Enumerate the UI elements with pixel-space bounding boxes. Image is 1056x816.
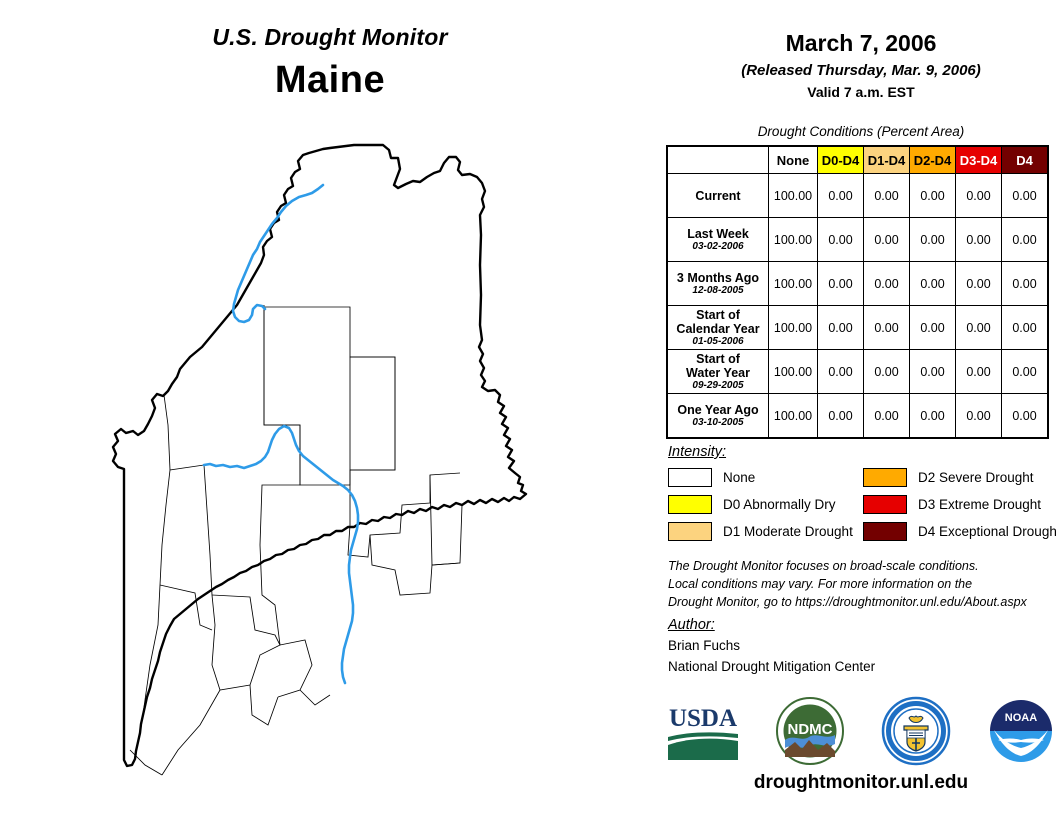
page-title: Maine — [0, 59, 660, 102]
cell-d1d4: 0.00 — [864, 350, 910, 394]
cell-d2d4: 0.00 — [910, 350, 956, 394]
cell-d3d4: 0.00 — [956, 174, 1002, 218]
cell-none: 100.00 — [769, 218, 818, 262]
row-label-date: 12-08-2005 — [668, 285, 768, 296]
disclaimer-line-3: Drought Monitor, go to https://droughtmo… — [668, 593, 1053, 611]
row-label-one-year-ago: One Year Ago 03-10-2005 — [667, 394, 769, 439]
ndmc-logo[interactable]: NDMC — [775, 696, 845, 766]
cell-d0d4: 0.00 — [818, 350, 864, 394]
row-label-date: 03-02-2006 — [668, 241, 768, 252]
legend-swatch-d2 — [863, 468, 907, 487]
legend-label-d3: D3 Extreme Drought — [918, 497, 1041, 512]
release-note: (Released Thursday, Mar. 9, 2006) — [666, 62, 1056, 79]
column-header-none: None — [769, 146, 818, 174]
legend-swatch-d3 — [863, 495, 907, 514]
logo-row: USDA NDMC NOAA — [666, 695, 1056, 767]
cell-d2d4: 0.00 — [910, 262, 956, 306]
county-line-cumberland — [162, 690, 220, 775]
row-label-text: Start of Water Year — [686, 352, 750, 380]
cell-none: 100.00 — [769, 394, 818, 439]
cell-d4: 0.00 — [1002, 218, 1049, 262]
legend-label-d2: D2 Severe Drought — [918, 470, 1034, 485]
row-label-text: Start of Calendar Year — [676, 308, 759, 336]
legend-swatch-d0 — [668, 495, 712, 514]
cell-d4: 0.00 — [1002, 394, 1049, 439]
row-label-text: 3 Months Ago — [677, 271, 759, 285]
author-heading: Author: — [668, 617, 715, 633]
table-corner-cell — [667, 146, 769, 174]
legend-label-d1: D1 Moderate Drought — [723, 524, 853, 539]
disclaimer-line-1: The Drought Monitor focuses on broad-sca… — [668, 557, 1053, 575]
cell-none: 100.00 — [769, 350, 818, 394]
release-date: March 7, 2006 — [666, 30, 1056, 57]
maine-state-outline — [113, 145, 526, 766]
valid-note: Valid 7 a.m. EST — [666, 84, 1056, 100]
usda-field-shape — [668, 739, 738, 760]
drought-conditions-table: None D0-D4 D1-D4 D2-D4 D3-D4 D4 Current … — [666, 145, 1049, 439]
table-row: Last Week 03-02-2006 100.00 0.00 0.00 0.… — [667, 218, 1048, 262]
table-body: Current 100.00 0.00 0.00 0.00 0.00 0.00 … — [667, 174, 1048, 439]
cell-d4: 0.00 — [1002, 350, 1049, 394]
commerce-seal[interactable] — [881, 696, 951, 766]
site-url[interactable]: droughtmonitor.unl.edu — [666, 772, 1056, 794]
cell-d3d4: 0.00 — [956, 306, 1002, 350]
ndmc-logo-text: NDMC — [788, 721, 833, 738]
noaa-logo-text: NOAA — [1005, 712, 1037, 724]
cell-d4: 0.00 — [1002, 174, 1049, 218]
row-label-text: Current — [695, 189, 740, 203]
table-row: 3 Months Ago 12-08-2005 100.00 0.00 0.00… — [667, 262, 1048, 306]
county-line-waldo — [278, 640, 312, 697]
cell-d0d4: 0.00 — [818, 394, 864, 439]
legend-item-d4: D4 Exceptional Drought — [863, 520, 1056, 543]
state-outline-group — [113, 145, 526, 766]
county-line-sagadahoc — [250, 685, 278, 725]
row-label-start-calendar-year: Start of Calendar Year 01-05-2006 — [667, 306, 769, 350]
column-header-d4: D4 — [1002, 146, 1049, 174]
intensity-legend: None D2 Severe Drought D0 Abnormally Dry… — [668, 466, 1056, 547]
row-label-3-months-ago: 3 Months Ago 12-08-2005 — [667, 262, 769, 306]
row-label-date: 01-05-2006 — [668, 336, 768, 347]
legend-swatch-d4 — [863, 522, 907, 541]
legend-label-d4: D4 Exceptional Drought — [918, 524, 1056, 539]
program-title: U.S. Drought Monitor — [0, 24, 660, 51]
legend-label-d0: D0 Abnormally Dry — [723, 497, 836, 512]
commerce-shield-chief — [907, 730, 925, 738]
cell-d0d4: 0.00 — [818, 262, 864, 306]
intensity-heading: Intensity: — [668, 444, 726, 460]
table-row: Start of Water Year 09-29-2005 100.00 0.… — [667, 350, 1048, 394]
author-block: Brian Fuchs National Drought Mitigation … — [668, 636, 875, 678]
table-row: One Year Ago 03-10-2005 100.00 0.00 0.00… — [667, 394, 1048, 439]
legend-item-d3: D3 Extreme Drought — [863, 493, 1056, 516]
legend-item-d0: D0 Abnormally Dry — [668, 493, 863, 516]
cell-d3d4: 0.00 — [956, 350, 1002, 394]
cell-d0d4: 0.00 — [818, 174, 864, 218]
usda-logo[interactable]: USDA — [666, 700, 740, 762]
disclaimer-line-2: Local conditions may vary. For more info… — [668, 575, 1053, 593]
column-header-d0d4: D0-D4 — [818, 146, 864, 174]
county-line-knox-lincoln — [300, 690, 330, 705]
cell-none: 100.00 — [769, 262, 818, 306]
maine-drought-map[interactable] — [100, 125, 580, 785]
county-line-kennebec — [212, 595, 280, 645]
row-label-last-week: Last Week 03-02-2006 — [667, 218, 769, 262]
noaa-logo[interactable]: NOAA — [986, 696, 1056, 766]
legend-item-d2: D2 Severe Drought — [863, 466, 1056, 489]
column-header-d3d4: D3-D4 — [956, 146, 1002, 174]
disclaimer-text: The Drought Monitor focuses on broad-sca… — [668, 557, 1053, 611]
legend-swatch-d1 — [668, 522, 712, 541]
table-row: Current 100.00 0.00 0.00 0.00 0.00 0.00 — [667, 174, 1048, 218]
noaa-lower-disc — [990, 731, 1052, 762]
table-header-row: None D0-D4 D1-D4 D2-D4 D3-D4 D4 — [667, 146, 1048, 174]
map-svg — [100, 125, 580, 785]
cell-d4: 0.00 — [1002, 306, 1049, 350]
map-title-block: U.S. Drought Monitor Maine — [0, 24, 660, 102]
author-organization: National Drought Mitigation Center — [668, 657, 875, 678]
column-header-d2d4: D2-D4 — [910, 146, 956, 174]
row-label-text: Last Week — [687, 227, 749, 241]
cell-d1d4: 0.00 — [864, 394, 910, 439]
cell-d4: 0.00 — [1002, 262, 1049, 306]
row-label-date: 09-29-2005 — [668, 380, 768, 391]
author-name: Brian Fuchs — [668, 636, 875, 657]
cell-d1d4: 0.00 — [864, 174, 910, 218]
legend-swatch-none — [668, 468, 712, 487]
table-caption: Drought Conditions (Percent Area) — [666, 124, 1056, 139]
cell-d2d4: 0.00 — [910, 174, 956, 218]
cell-d2d4: 0.00 — [910, 218, 956, 262]
cell-d0d4: 0.00 — [818, 218, 864, 262]
cell-none: 100.00 — [769, 174, 818, 218]
county-line-hancock — [370, 535, 460, 595]
cell-d3d4: 0.00 — [956, 262, 1002, 306]
row-label-start-water-year: Start of Water Year 09-29-2005 — [667, 350, 769, 394]
release-header: March 7, 2006 (Released Thursday, Mar. 9… — [666, 30, 1056, 100]
usda-logo-text: USDA — [669, 705, 737, 732]
cell-d2d4: 0.00 — [910, 394, 956, 439]
cell-d1d4: 0.00 — [864, 306, 910, 350]
cell-d3d4: 0.00 — [956, 218, 1002, 262]
legend-label-none: None — [723, 470, 755, 485]
cell-d1d4: 0.00 — [864, 262, 910, 306]
row-label-date: 03-10-2005 — [668, 417, 768, 428]
row-label-text: One Year Ago — [677, 403, 758, 417]
cell-d3d4: 0.00 — [956, 394, 1002, 439]
legend-item-none: None — [668, 466, 863, 489]
legend-item-d1: D1 Moderate Drought — [668, 520, 863, 543]
cell-d0d4: 0.00 — [818, 306, 864, 350]
row-label-current: Current — [667, 174, 769, 218]
cell-d1d4: 0.00 — [864, 218, 910, 262]
column-header-d1d4: D1-D4 — [864, 146, 910, 174]
cell-none: 100.00 — [769, 306, 818, 350]
table-row: Start of Calendar Year 01-05-2006 100.00… — [667, 306, 1048, 350]
table-header: None D0-D4 D1-D4 D2-D4 D3-D4 D4 — [667, 146, 1048, 174]
cell-d2d4: 0.00 — [910, 306, 956, 350]
